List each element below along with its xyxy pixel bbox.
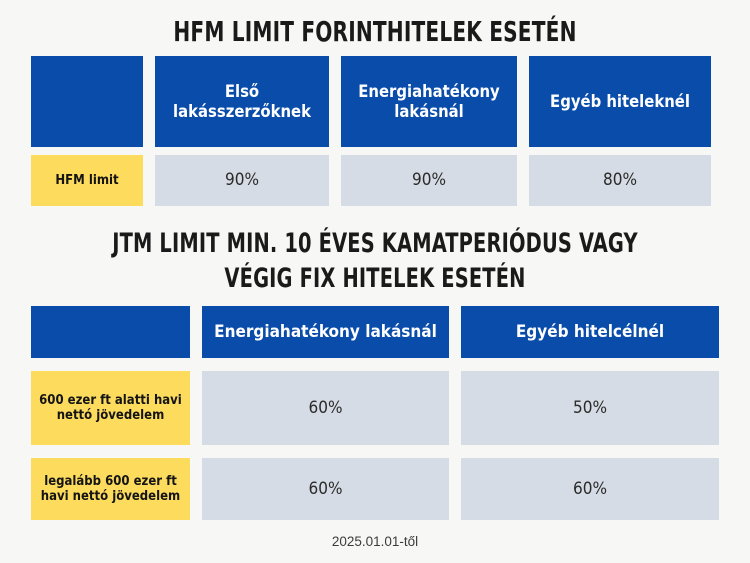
infographic-page: HFM LIMIT FORINTHITELEK ESETÉN Első laká… <box>0 0 750 563</box>
effective-date-footnote: 2025.01.01-től <box>0 534 750 549</box>
table-header-cell-energy-efficient: Energiahatékony lakásnál <box>202 306 449 358</box>
value-cell-first-home: 90% <box>155 155 329 206</box>
value-cell-other-purpose-below-600k: 50% <box>461 371 719 445</box>
table-header-row: Első lakásszerzőknek Energiahatékony lak… <box>31 56 719 147</box>
row-label-income-below-600k: 600 ezer ft alatti havi nettó jövedelem <box>31 371 190 445</box>
hfm-limit-table: Első lakásszerzőknek Energiahatékony lak… <box>31 56 719 206</box>
table-header-cell-other-purpose: Egyéb hitelcélnél <box>461 306 719 358</box>
value-cell-other-purpose-above-600k: 60% <box>461 458 719 520</box>
table-header-row: Energiahatékony lakásnál Egyéb hitelcéln… <box>31 306 719 358</box>
value-cell-other-loans: 80% <box>529 155 711 206</box>
table-row: legalább 600 ezer ft havi nettó jövedele… <box>31 458 719 520</box>
table-header-cell-other-loans: Egyéb hiteleknél <box>529 56 711 147</box>
table-header-cell-corner <box>31 56 143 147</box>
row-label-hfm-limit: HFM limit <box>31 155 143 206</box>
table-header-cell-first-home: Első lakásszerzőknek <box>155 56 329 147</box>
table-header-cell-energy-efficient: Energiahatékony lakásnál <box>341 56 517 147</box>
section-1-title: HFM LIMIT FORINTHITELEK ESETÉN <box>75 16 675 48</box>
table-row: HFM limit 90% 90% 80% <box>31 155 719 206</box>
section-2-title: JTM LIMIT MIN. 10 ÉVES KAMATPERIÓDUS VAG… <box>75 226 675 296</box>
value-cell-energy-efficient-below-600k: 60% <box>202 371 449 445</box>
value-cell-energy-efficient-above-600k: 60% <box>202 458 449 520</box>
value-cell-energy-efficient: 90% <box>341 155 517 206</box>
table-header-cell-corner <box>31 306 190 358</box>
jtm-limit-table: Energiahatékony lakásnál Egyéb hitelcéln… <box>31 306 719 520</box>
table-row: 600 ezer ft alatti havi nettó jövedelem … <box>31 371 719 445</box>
row-label-income-above-600k: legalább 600 ezer ft havi nettó jövedele… <box>31 458 190 520</box>
